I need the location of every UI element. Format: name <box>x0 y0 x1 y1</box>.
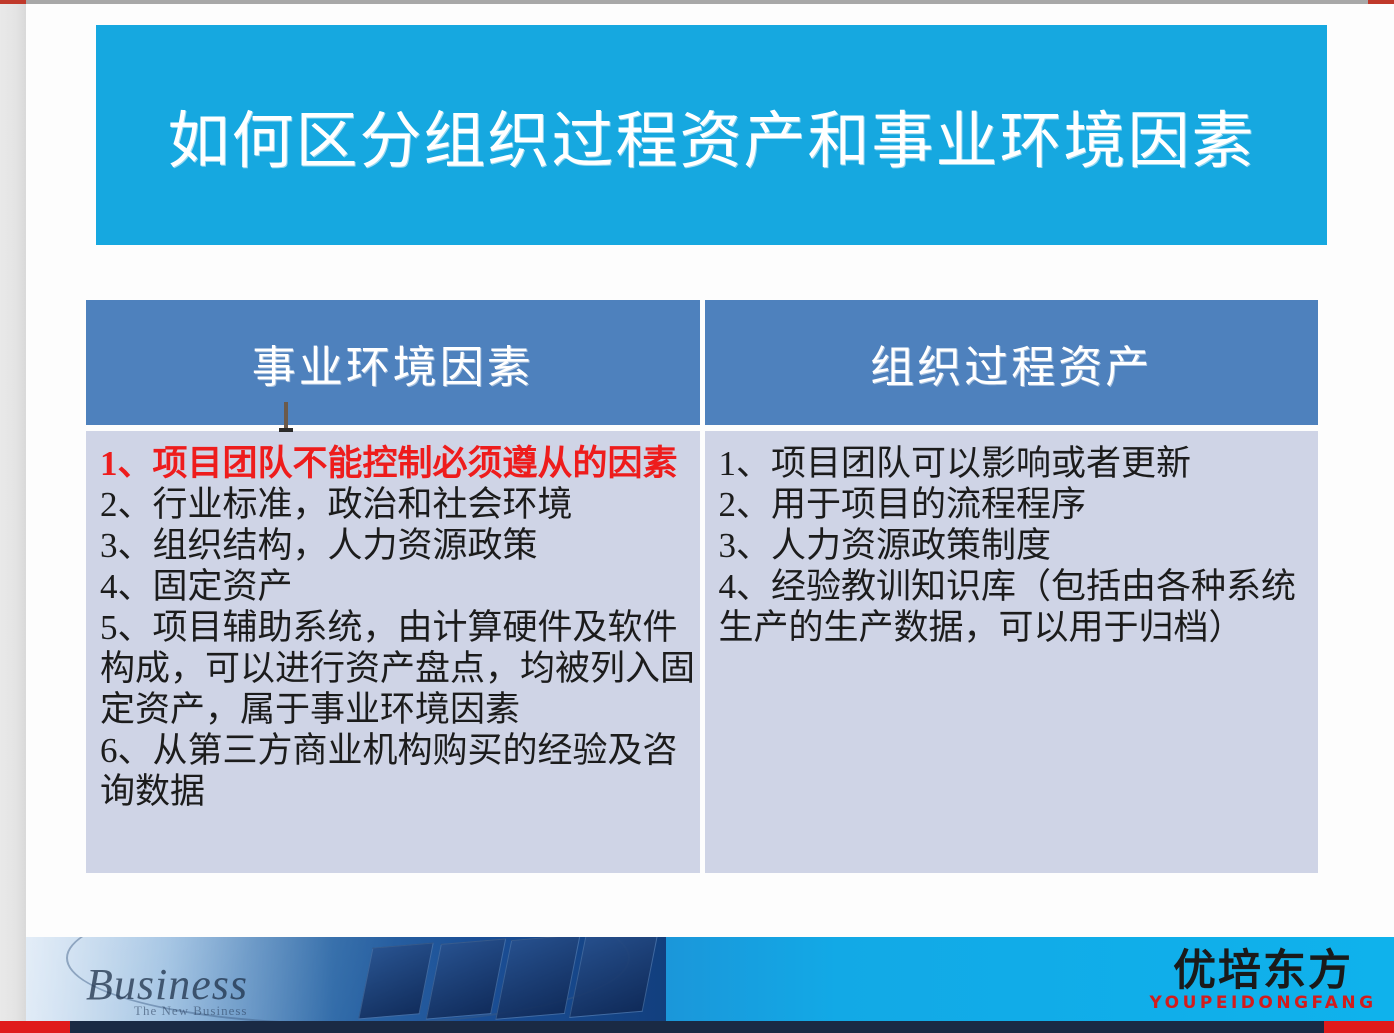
table-header-cell-left: 事业环境因素 <box>86 300 700 425</box>
slide-canvas: 如何区分组织过程资产和事业环境因素 事业环境因素 组织过程资产 1、项目团队不能… <box>26 4 1394 1021</box>
table-cell-line: 生产的生产数据，可以用于归档） <box>719 607 1303 648</box>
table-cell-line: 4、经验教训知识库（包括由各种系统 <box>719 566 1303 607</box>
column-header-label-left: 事业环境因素 <box>252 331 534 395</box>
table-body-cell-right: 1、项目团队可以影响或者更新2、用于项目的流程程序3、人力资源政策制度4、经验教… <box>705 431 1319 873</box>
table-cell-line: 4、固定资产 <box>100 566 684 607</box>
brand-logo-pinyin: YOUPEIDONGFANG <box>1149 994 1376 1013</box>
table-body-row: 1、项目团队不能控制必须遵从的因素2、行业标准，政治和社会环境3、组织结构，人力… <box>86 431 1318 873</box>
bottom-edge-bar <box>0 1021 1394 1033</box>
table-cell-line: 3、组织结构，人力资源政策 <box>100 525 684 566</box>
table-cell-line: 构成，可以进行资产盘点，均被列入固 <box>100 648 684 689</box>
table-cell-line: 1、项目团队可以影响或者更新 <box>719 443 1303 484</box>
table-body-cell-left: 1、项目团队不能控制必须遵从的因素2、行业标准，政治和社会环境3、组织结构，人力… <box>86 431 700 873</box>
table-cell-line: 1、项目团队不能控制必须遵从的因素 <box>100 443 684 484</box>
table-cell-line: 2、用于项目的流程程序 <box>719 484 1303 525</box>
slide-viewport: 如何区分组织过程资产和事业环境因素 事业环境因素 组织过程资产 1、项目团队不能… <box>0 0 1394 1033</box>
column-header-label-right: 组织过程资产 <box>870 331 1152 395</box>
table-cell-line: 3、人力资源政策制度 <box>719 525 1303 566</box>
text-cursor-caret <box>284 402 288 429</box>
table-cell-line: 6、从第三方商业机构购买的经验及咨 <box>100 730 684 771</box>
table-header-cell-right: 组织过程资产 <box>705 300 1319 425</box>
table-cell-line: 5、项目辅助系统，由计算硬件及软件 <box>100 607 684 648</box>
page-title: 如何区分组织过程资产和事业环境因素 <box>167 90 1255 180</box>
table-cell-line: 2、行业标准，政治和社会环境 <box>100 484 684 525</box>
brand-logo: 优培东方 YOUPEIDONGFANG <box>1148 943 1378 1017</box>
left-edge-strip <box>0 0 26 1033</box>
top-edge-line <box>0 0 1394 4</box>
keyboard-background-image: Business The New Business <box>26 937 666 1021</box>
footer-band: Business The New Business 优培东方 YOUPEIDON… <box>0 937 1394 1021</box>
keyboard-key-icon <box>569 937 659 1018</box>
table-cell-line: 询数据 <box>100 771 684 812</box>
table-cell-line: 定资产，属于事业环境因素 <box>100 689 684 730</box>
table-header-row: 事业环境因素 组织过程资产 <box>86 300 1318 425</box>
comparison-table: 事业环境因素 组织过程资产 1、项目团队不能控制必须遵从的因素2、行业标准，政治… <box>86 300 1318 878</box>
brand-logo-chinese: 优培东方 <box>1173 948 1353 994</box>
business-subtext: The New Business <box>134 1003 248 1019</box>
title-banner: 如何区分组织过程资产和事业环境因素 <box>96 25 1327 245</box>
